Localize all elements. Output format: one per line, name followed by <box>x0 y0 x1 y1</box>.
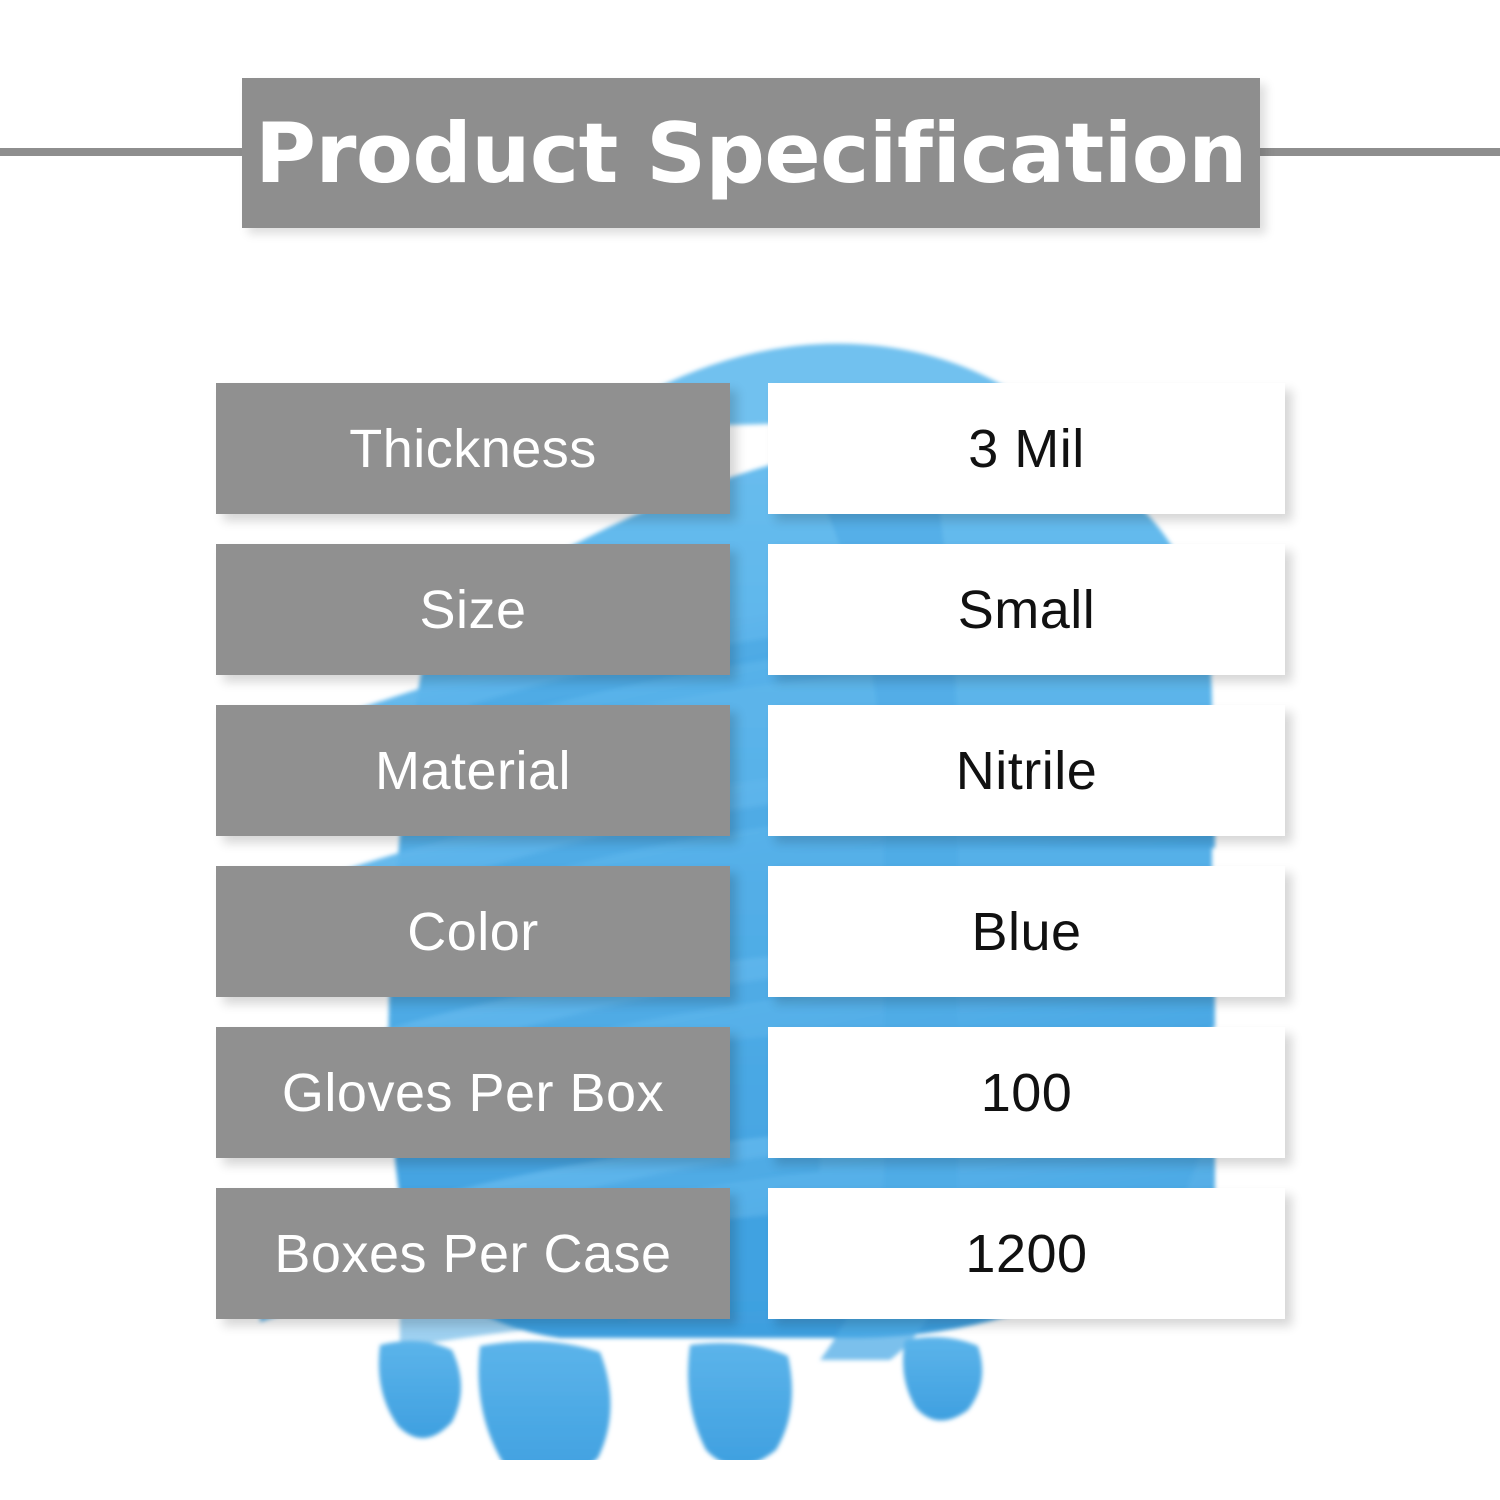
spec-value-boxes-per-case: 1200 <box>768 1188 1285 1319</box>
spec-label-text: Thickness <box>349 422 597 476</box>
spec-value-gloves-per-box: 100 <box>768 1027 1285 1158</box>
spec-label-text: Gloves Per Box <box>282 1066 664 1120</box>
spec-label-material: Material <box>216 705 730 836</box>
specification-table: Thickness 3 Mil Size Small Material Nitr… <box>0 0 1500 1500</box>
spec-label-color: Color <box>216 866 730 997</box>
table-row: Size Small <box>216 544 1285 675</box>
spec-label-size: Size <box>216 544 730 675</box>
spec-label-text: Color <box>407 905 539 959</box>
spec-label-text: Material <box>375 744 571 798</box>
spec-value-text: Nitrile <box>956 744 1098 798</box>
table-row: Thickness 3 Mil <box>216 383 1285 514</box>
table-row: Gloves Per Box 100 <box>216 1027 1285 1158</box>
spec-value-text: Small <box>958 583 1096 637</box>
spec-value-text: 3 Mil <box>968 422 1085 476</box>
table-row: Color Blue <box>216 866 1285 997</box>
spec-label-gloves-per-box: Gloves Per Box <box>216 1027 730 1158</box>
spec-label-thickness: Thickness <box>216 383 730 514</box>
spec-label-text: Size <box>419 583 526 637</box>
spec-value-text: 1200 <box>965 1227 1087 1281</box>
spec-value-size: Small <box>768 544 1285 675</box>
spec-label-boxes-per-case: Boxes Per Case <box>216 1188 730 1319</box>
spec-value-text: 100 <box>981 1066 1073 1120</box>
product-specification-infographic: Product Specification <box>0 0 1500 1500</box>
table-row: Material Nitrile <box>216 705 1285 836</box>
spec-value-color: Blue <box>768 866 1285 997</box>
table-row: Boxes Per Case 1200 <box>216 1188 1285 1319</box>
spec-value-thickness: 3 Mil <box>768 383 1285 514</box>
spec-value-text: Blue <box>971 905 1081 959</box>
spec-value-material: Nitrile <box>768 705 1285 836</box>
spec-label-text: Boxes Per Case <box>274 1227 671 1281</box>
